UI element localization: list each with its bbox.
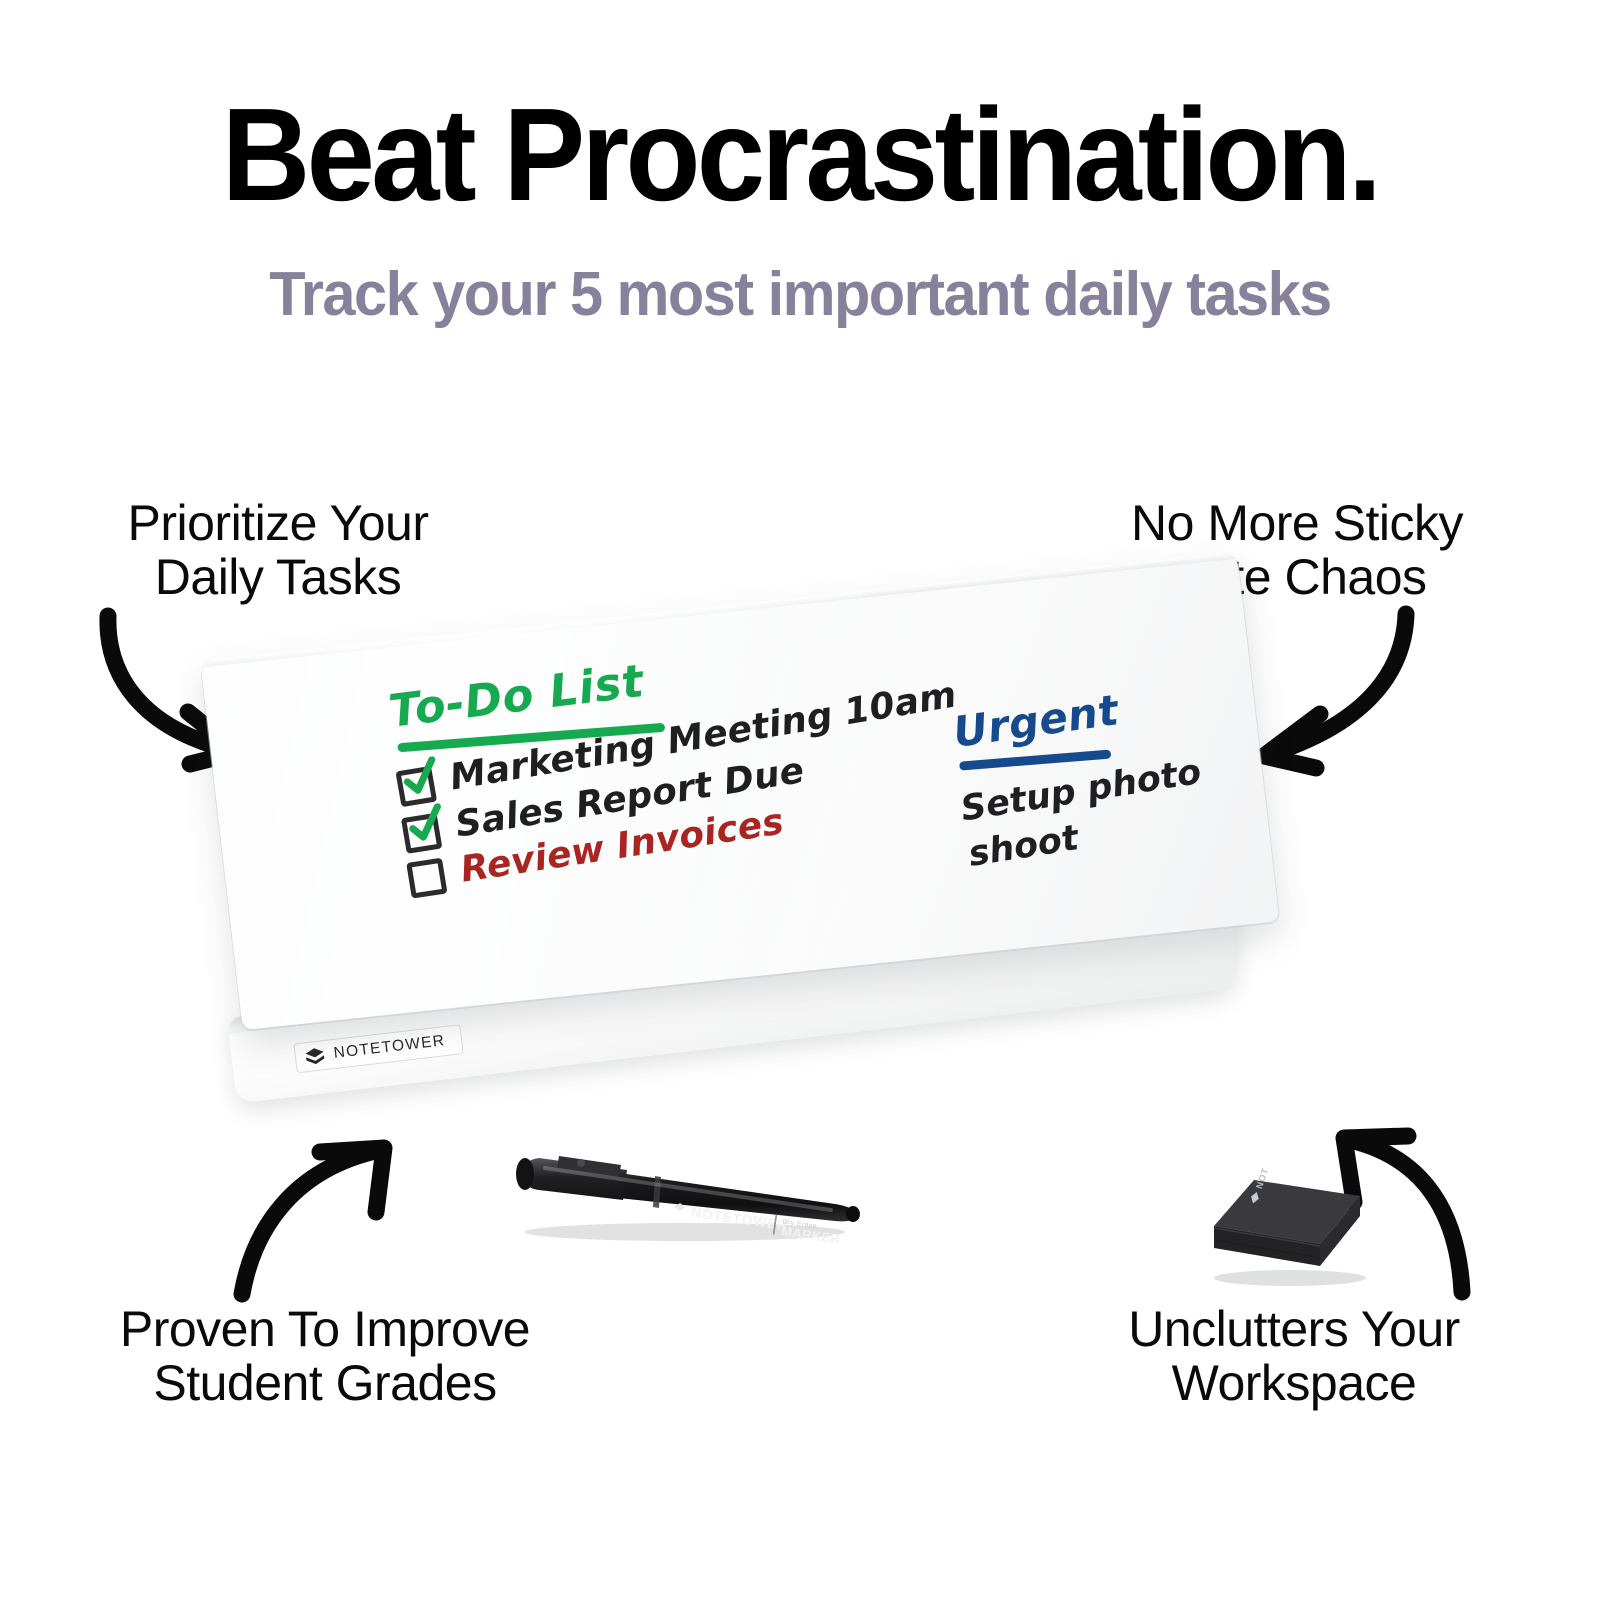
callout-label-prioritize-daily-tasks: Prioritize Your Daily Tasks [78,496,478,604]
brand-badge: NOTETOWER [294,1025,462,1072]
todo-list-section: To-Do List Marketing Meeting 10am [386,627,968,899]
page-title: Beat Procrastination. [56,88,1544,223]
urgent-section: Urgent Setup photo shoot [951,677,1269,879]
checkbox-checked-icon[interactable] [401,813,443,854]
checkbox-checked-icon[interactable] [395,766,437,807]
svg-text:MARKER: MARKER [780,1224,841,1247]
dry-erase-eraser: NOTETOWER [1192,1168,1382,1288]
callout-label-improve-student-grades: Proven To Improve Student Grades [70,1302,580,1410]
callout-label-unclutters-workspace: Unclutters Your Workspace [1094,1302,1494,1410]
urgent-heading: Urgent [950,667,1254,757]
page-subtitle: Track your 5 most important daily tasks [32,262,1568,327]
notetower-layers-icon [304,1047,326,1066]
dry-erase-marker: NOTETOWER Dry Erase MARKER [505,1128,865,1248]
brand-badge-label: NOTETOWER [333,1032,446,1063]
notetower-whiteboard: NOTETOWER To-Do List Marketing Meet [225,630,1455,1160]
checkmark-icon [402,803,448,849]
product-marketing-image: Beat Procrastination. Track your 5 most … [0,0,1600,1600]
kickstand-leg [1247,930,1367,1062]
checkmark-icon [397,756,443,802]
checkbox-unchecked-icon[interactable] [406,858,447,899]
